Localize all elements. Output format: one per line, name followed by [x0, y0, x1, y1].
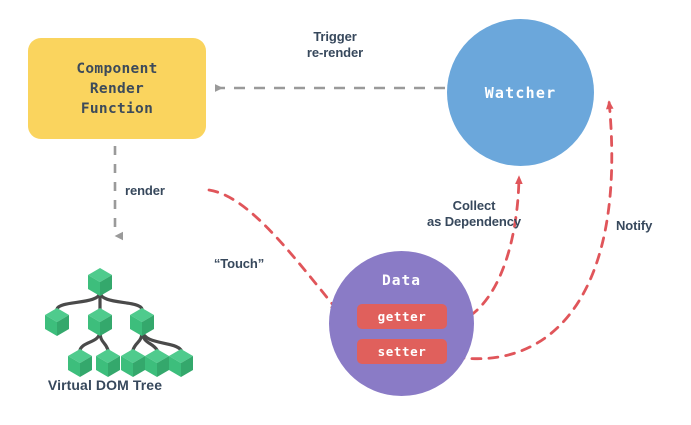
vdom-cube-l3-e — [169, 349, 193, 377]
virtual-dom-tree-caption: Virtual DOM Tree — [10, 377, 200, 393]
vdom-cube-l2-c — [130, 308, 154, 336]
edge-touch — [209, 190, 338, 311]
vdom-cube-l3-b — [96, 349, 120, 377]
setter-box[interactable]: setter — [357, 339, 447, 364]
node-component-render-function[interactable]: Component Render Function — [28, 38, 206, 139]
node-data[interactable]: Data getter setter — [329, 251, 474, 396]
edge-label-collect-as-dependency: Collect as Dependency — [418, 198, 530, 231]
vdom-cube-l2-b — [88, 308, 112, 336]
getter-box[interactable]: getter — [357, 304, 447, 329]
edge-label-trigger-rerender: Trigger re-render — [270, 29, 400, 62]
vdom-cube-l2-a — [45, 308, 69, 336]
vdom-cube-l3-c — [121, 349, 145, 377]
data-label: Data — [329, 273, 474, 289]
watcher-label: Watcher — [485, 84, 557, 102]
edge-label-render: render — [125, 183, 201, 199]
node-watcher[interactable]: Watcher — [447, 19, 594, 166]
virtual-dom-tree-graphic — [45, 268, 193, 377]
vdom-cube-root — [88, 268, 112, 296]
diagram-canvas: Component Render Function Watcher Data g… — [0, 0, 691, 425]
vdom-cube-l3-a — [68, 349, 92, 377]
edge-label-notify: Notify — [616, 218, 676, 234]
component-label: Component Render Function — [76, 59, 157, 119]
edge-label-touch: “Touch” — [200, 256, 278, 272]
vdom-cube-l3-d — [145, 349, 169, 377]
